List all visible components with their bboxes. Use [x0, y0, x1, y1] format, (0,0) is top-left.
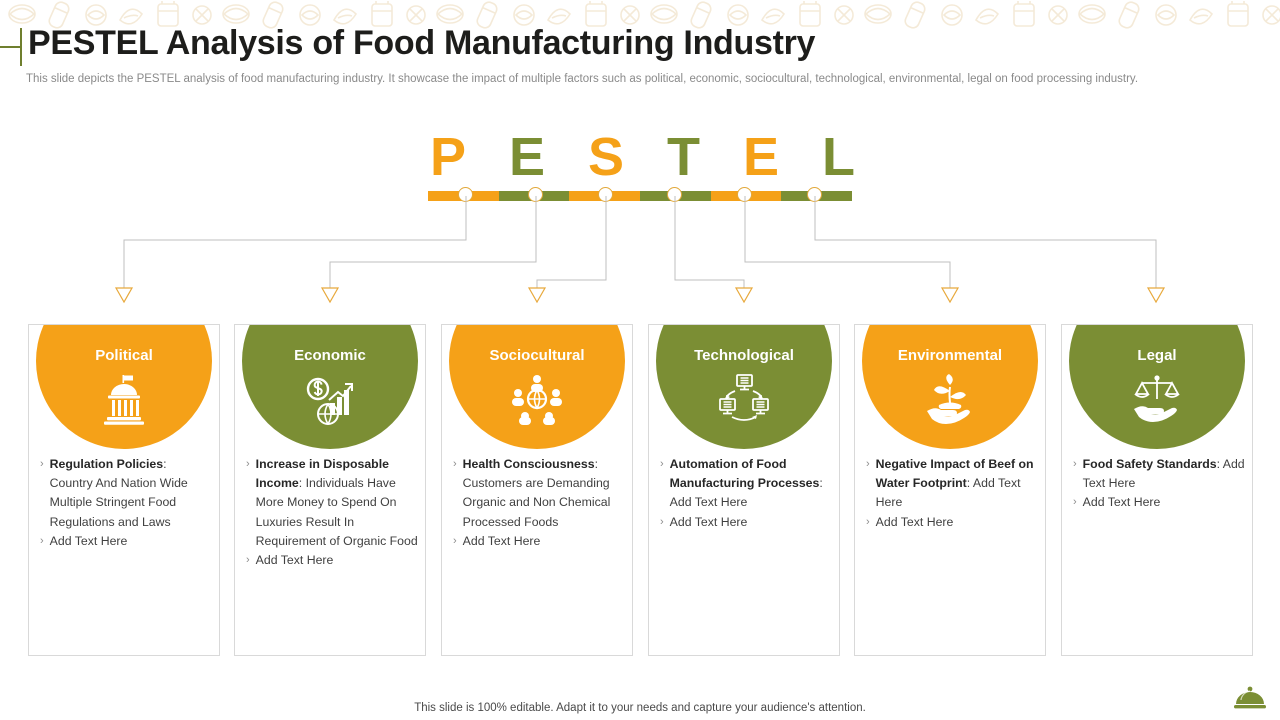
list-item-text: Add Text Here [463, 532, 625, 551]
list-item-label: Food Safety Standards [1083, 457, 1217, 471]
card-title-political: Political [29, 347, 219, 364]
card-political[interactable]: Political ›Regulation Policies: Country … [28, 324, 220, 656]
networked-computers-icon [717, 373, 771, 425]
card-body-economic: ›Increase in Disposable Income: Individu… [246, 455, 418, 570]
page-title: PESTEL Analysis of Food Manufacturing In… [28, 24, 815, 63]
list-item: ›Food Safety Standards: Add Text Here [1073, 455, 1245, 493]
chevron-right-icon: › [660, 455, 664, 513]
card-title-legal: Legal [1062, 347, 1252, 364]
chevron-right-icon: › [453, 455, 457, 532]
list-item-text: Add Text Here [670, 513, 832, 532]
list-item: ›Add Text Here [40, 532, 212, 551]
list-item-text: Automation of Food Manufacturing Process… [670, 455, 832, 513]
list-item-value: Add Text Here [50, 534, 128, 548]
list-item-value: Add Text Here [1083, 495, 1161, 509]
slide-canvas: PESTEL Analysis of Food Manufacturing In… [0, 0, 1280, 720]
card-body-legal: ›Food Safety Standards: Add Text Here›Ad… [1073, 455, 1245, 513]
chevron-right-icon: › [40, 532, 44, 551]
chevron-right-icon: › [453, 532, 457, 551]
list-item-value: Add Text Here [876, 515, 954, 529]
list-item-text: Add Text Here [50, 532, 212, 551]
list-item-text: Add Text Here [1083, 493, 1245, 512]
list-item-text: Increase in Disposable Income: Individua… [256, 455, 418, 551]
pestel-cards: Political ›Regulation Policies: Country … [0, 324, 1280, 658]
list-item-text: Food Safety Standards: Add Text Here [1083, 455, 1245, 493]
list-item: ›Health Consciousness: Customers are Dem… [453, 455, 625, 532]
page-subtitle: This slide depicts the PESTEL analysis o… [26, 71, 1191, 87]
acronym-letter-t: T [667, 130, 700, 184]
chevron-right-icon: › [660, 513, 664, 532]
list-item-text: Negative Impact of Beef on Water Footpri… [876, 455, 1038, 513]
card-title-economic: Economic [235, 347, 425, 364]
acronym-letter-e1: E [509, 130, 545, 184]
list-item-text: Add Text Here [256, 551, 418, 570]
list-item: ›Add Text Here [866, 513, 1038, 532]
list-item-label: Automation of Food Manufacturing Process… [670, 457, 820, 490]
hand-plant-icon [923, 373, 977, 425]
connector-lines [0, 196, 1280, 314]
card-body-environmental: ›Negative Impact of Beef on Water Footpr… [866, 455, 1038, 532]
card-body-technological: ›Automation of Food Manufacturing Proces… [660, 455, 832, 532]
chevron-right-icon: › [866, 455, 870, 513]
card-title-technological: Technological [649, 347, 839, 364]
list-item-value: Add Text Here [670, 515, 748, 529]
card-economic[interactable]: Economic ›Increase in Disposable Income:… [234, 324, 426, 656]
people-globe-icon [510, 373, 564, 425]
list-item: ›Add Text Here [660, 513, 832, 532]
list-item: ›Add Text Here [1073, 493, 1245, 512]
list-item-value: Add Text Here [463, 534, 541, 548]
card-title-environmental: Environmental [855, 347, 1045, 364]
card-legal[interactable]: Legal ›Food Safety Standards: Add Text H… [1061, 324, 1253, 656]
chevron-right-icon: › [40, 455, 44, 532]
title-accent-bar [0, 46, 22, 48]
chevron-right-icon: › [1073, 493, 1077, 512]
dollar-growth-chart-icon [303, 373, 357, 425]
bank-building-icon [97, 373, 151, 425]
list-item-label: Regulation Policies [50, 457, 163, 471]
acronym-letter-s: S [588, 130, 624, 184]
acronym-letter-e2: E [743, 130, 779, 184]
title-accent-stem [20, 28, 22, 66]
card-body-sociocultural: ›Health Consciousness: Customers are Dem… [453, 455, 625, 551]
list-item: ›Add Text Here [246, 551, 418, 570]
list-item: ›Increase in Disposable Income: Individu… [246, 455, 418, 551]
list-item: ›Automation of Food Manufacturing Proces… [660, 455, 832, 513]
card-technological[interactable]: Technological ›Automation of Food Manufa… [648, 324, 840, 656]
chevron-right-icon: › [1073, 455, 1077, 493]
card-title-sociocultural: Sociocultural [442, 347, 632, 364]
list-item-label: Health Consciousness [463, 457, 595, 471]
list-item: ›Regulation Policies: Country And Nation… [40, 455, 212, 532]
footer-note: This slide is 100% editable. Adapt it to… [0, 702, 1280, 714]
list-item-text: Health Consciousness: Customers are Dema… [463, 455, 625, 532]
list-item-text: Add Text Here [876, 513, 1038, 532]
list-item-text: Regulation Policies: Country And Nation … [50, 455, 212, 532]
list-item: ›Negative Impact of Beef on Water Footpr… [866, 455, 1038, 513]
list-item: ›Add Text Here [453, 532, 625, 551]
card-environmental[interactable]: Environmental ›Negative Impact of Beef o… [854, 324, 1046, 656]
food-cloche-icon [1232, 682, 1268, 712]
chevron-right-icon: › [246, 455, 250, 551]
list-item-value: Add Text Here [256, 553, 334, 567]
acronym-letter-l: L [822, 130, 855, 184]
chevron-right-icon: › [246, 551, 250, 570]
hand-scales-icon [1130, 373, 1184, 425]
acronym-letter-p: P [430, 130, 466, 184]
card-body-political: ›Regulation Policies: Country And Nation… [40, 455, 212, 551]
chevron-right-icon: › [866, 513, 870, 532]
card-sociocultural[interactable]: Sociocultural ›Health Consciousness: Cus… [441, 324, 633, 656]
pestel-acronym: P E S T E L [430, 126, 855, 188]
